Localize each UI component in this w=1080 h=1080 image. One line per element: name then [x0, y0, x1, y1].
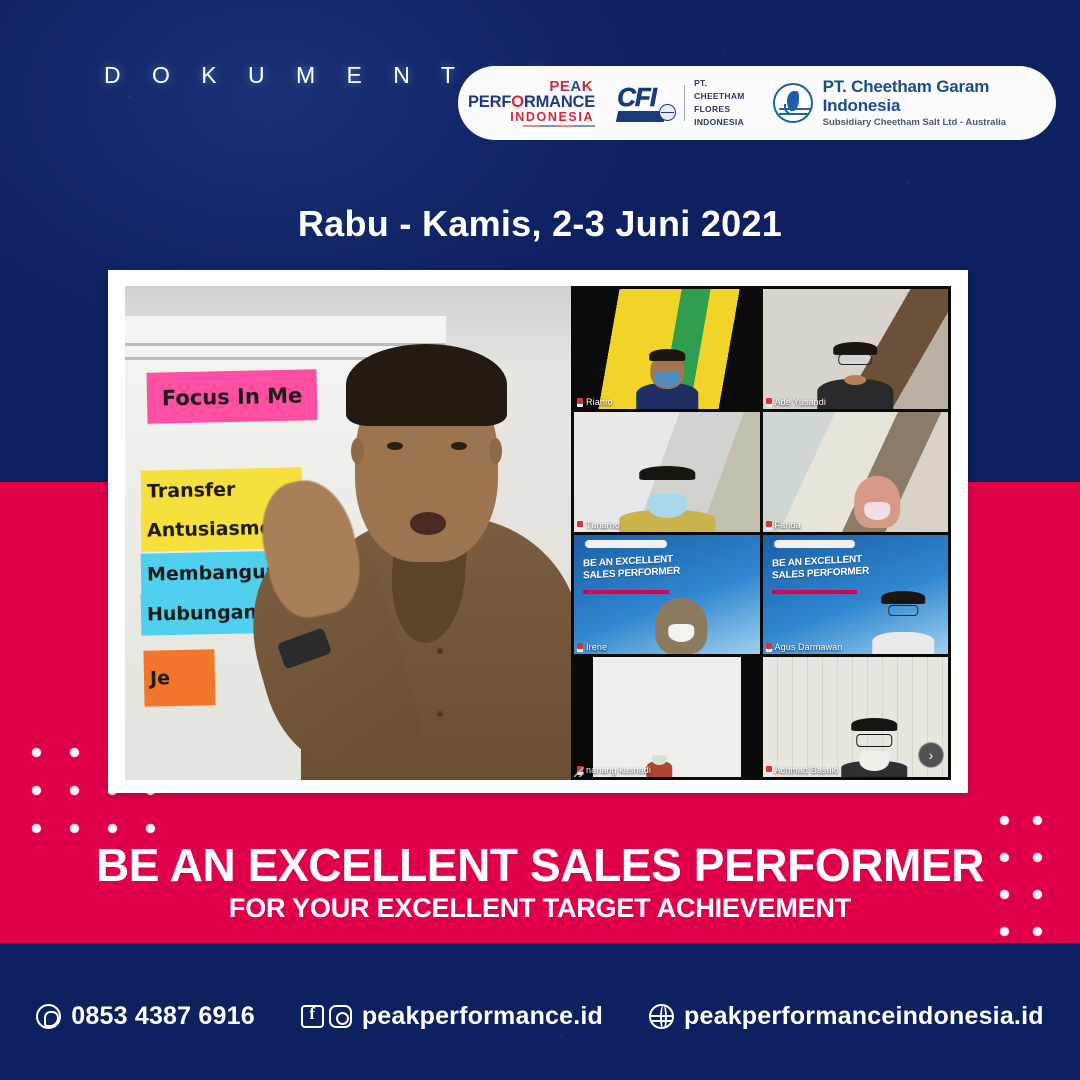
poster-canvas: D O K U M E N T A S I PEAK PERFORMANCE I… — [0, 0, 1080, 1080]
seahorse-icon — [773, 83, 813, 123]
cheetham-subtitle: Subsidiary Cheetham Salt Ltd - Australia — [823, 117, 1046, 128]
indonesia-flag-icon — [766, 398, 772, 407]
indonesia-flag-icon — [577, 643, 583, 652]
cfi-mark-icon: CFI — [617, 83, 675, 123]
dot — [1000, 816, 1009, 825]
participant-name: Irene — [577, 643, 607, 652]
dot — [1033, 816, 1042, 825]
wave-line — [779, 113, 811, 115]
whatsapp-number: 0853 4387 6916 — [71, 1002, 255, 1031]
speaker-figure — [277, 326, 571, 780]
cheetham-logo-text: PT. Cheetham Garam Indonesia Subsidiary … — [823, 78, 1046, 128]
speaker-mouth — [410, 512, 446, 535]
cfi-text-line1: PT. — [694, 77, 745, 90]
cfi-text-line4: INDONESIA — [694, 116, 745, 129]
peak-performance-logo: PEAK PERFORMANCE INDONESIA — [458, 79, 605, 127]
cfi-divider — [684, 85, 685, 121]
dot — [32, 748, 41, 757]
event-date-title: Rabu - Kamis, 2-3 Juni 2021 — [0, 203, 1080, 245]
website-url: peakperformanceindonesia.id — [684, 1002, 1044, 1031]
participant-name: Tunarno — [577, 521, 620, 530]
indonesia-flag-icon — [577, 398, 583, 407]
participant-name: Achmad Basuki — [766, 766, 839, 775]
resize-grip-icon[interactable] — [574, 767, 584, 777]
cheetham-garam-logo: PT. Cheetham Garam Indonesia Subsidiary … — [757, 78, 1056, 128]
dot — [1000, 927, 1009, 936]
next-page-button[interactable]: › — [918, 742, 944, 768]
participant-tile[interactable]: Farida — [763, 412, 948, 532]
dot — [1033, 927, 1042, 936]
dot — [70, 824, 79, 833]
dot — [32, 824, 41, 833]
contact-whatsapp[interactable]: 0853 4387 6916 — [36, 1002, 255, 1031]
indonesia-flag-icon — [766, 766, 772, 775]
contact-social[interactable]: peakperformance.id — [301, 1002, 603, 1031]
photo-frame: Focus In Me Transfer Antusiasme Membangu… — [108, 270, 968, 793]
participant-name: Agus Darmawan — [766, 643, 843, 652]
peak-logo-line2: PERFORMANCE — [468, 94, 595, 111]
participant-name: Rianto — [577, 398, 613, 407]
dot — [70, 748, 79, 757]
speaker-video-pane: Focus In Me Transfer Antusiasme Membangu… — [125, 286, 571, 780]
facebook-icon — [301, 1005, 324, 1028]
dot — [70, 786, 79, 795]
contact-website[interactable]: peakperformanceindonesia.id — [649, 1002, 1044, 1031]
social-handle: peakperformance.id — [362, 1002, 603, 1031]
cfi-text-line3: FLORES — [694, 103, 745, 116]
sponsor-logo-bar: PEAK PERFORMANCE INDONESIA CFI PT. CHEET… — [458, 66, 1056, 140]
participant-tile[interactable]: Ade Yusandi — [763, 289, 948, 409]
contact-footer: 0853 4387 6916 peakperformance.id peakpe… — [0, 993, 1080, 1039]
participant-tile[interactable]: BE AN EXCELLENT SALES PERFORMER Irene — [574, 535, 759, 655]
wave-line — [779, 108, 811, 110]
participant-tile[interactable]: Tunarno — [574, 412, 759, 532]
dot — [32, 786, 41, 795]
speaker-hair — [346, 344, 507, 426]
peak-logo-line1: PEAK — [549, 79, 593, 94]
participant-tile[interactable]: nanang kusnadi — [574, 657, 759, 777]
dot — [146, 824, 155, 833]
cfi-letters: CFI — [617, 84, 656, 110]
participant-name: Ade Yusandi — [766, 398, 826, 407]
cfi-company-text: PT. CHEETHAM FLORES INDONESIA — [694, 77, 745, 130]
indonesia-flag-icon — [577, 521, 583, 530]
cfi-globe-icon — [659, 104, 676, 121]
participant-name: nanang kusnadi — [577, 766, 651, 775]
cfi-text-line2: CHEETHAM — [694, 90, 745, 103]
participant-tile[interactable]: BE AN EXCELLENT SALES PERFORMER — [763, 535, 948, 655]
banner-subheadline: FOR YOUR EXCELLENT TARGET ACHIEVEMENT — [0, 893, 1080, 924]
indonesia-flag-icon — [766, 643, 772, 652]
participant-name: Farida — [766, 521, 801, 530]
peak-logo-line3: INDONESIA — [510, 111, 594, 124]
website-icon — [649, 1004, 674, 1029]
documentation-photo: Focus In Me Transfer Antusiasme Membangu… — [125, 286, 951, 780]
indonesia-flag-icon — [766, 521, 772, 530]
banner-headline: BE AN EXCELLENT SALES PERFORMER — [0, 838, 1080, 892]
whatsapp-icon — [36, 1004, 61, 1029]
cheetham-title: PT. Cheetham Garam Indonesia — [823, 78, 1046, 115]
video-call-grid: Rianto — [571, 286, 951, 780]
instagram-icon — [329, 1005, 352, 1028]
sticky-note: Je — [144, 649, 216, 706]
participant-tile[interactable]: Rianto — [574, 289, 759, 409]
peak-logo-rule — [523, 125, 595, 127]
dot — [108, 824, 117, 833]
cfi-logo: CFI PT. CHEETHAM FLORES INDONESIA — [605, 77, 757, 130]
